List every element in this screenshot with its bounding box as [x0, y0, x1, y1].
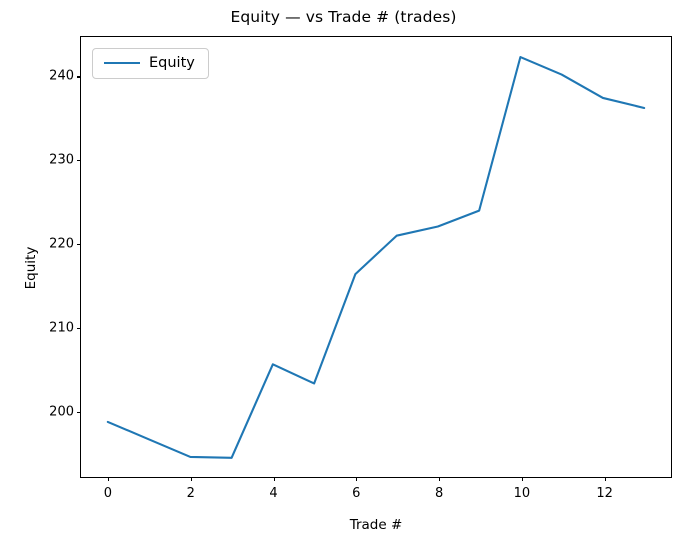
- x-tick-label: 2: [187, 486, 195, 501]
- y-tick-label: 200: [49, 404, 74, 419]
- x-tick-mark: [522, 477, 523, 481]
- y-tick-mark: [77, 328, 81, 329]
- legend-entry-label: Equity: [149, 56, 195, 71]
- y-tick-label: 230: [49, 153, 74, 168]
- equity-series-line: [108, 57, 644, 458]
- x-tick-mark: [191, 477, 192, 481]
- x-axis-label: Trade #: [81, 517, 671, 533]
- x-tick-label: 6: [352, 486, 360, 501]
- x-tick-mark: [356, 477, 357, 481]
- x-tick-mark: [439, 477, 440, 481]
- x-tick-mark: [274, 477, 275, 481]
- x-tick-label: 0: [104, 486, 112, 501]
- x-tick-label: 10: [514, 486, 531, 501]
- x-tick-label: 8: [435, 486, 443, 501]
- x-tick-mark: [108, 477, 109, 481]
- x-tick-mark: [605, 477, 606, 481]
- x-tick-label: 12: [596, 486, 613, 501]
- chart-figure: Equity — vs Trade # (trades) Equity Trad…: [0, 0, 687, 546]
- y-tick-label: 240: [49, 69, 74, 84]
- chart-title: Equity — vs Trade # (trades): [0, 8, 687, 26]
- y-tick-mark: [77, 412, 81, 413]
- x-tick-label: 4: [269, 486, 277, 501]
- plot-area: Equity Trade # 200210220230240 024681012…: [80, 36, 672, 478]
- legend-line-swatch-icon: [104, 62, 140, 64]
- y-tick-mark: [77, 160, 81, 161]
- y-tick-label: 220: [49, 237, 74, 252]
- y-tick-label: 210: [49, 321, 74, 336]
- y-tick-mark: [77, 76, 81, 77]
- y-axis-label: Equity: [23, 198, 43, 338]
- y-tick-mark: [77, 244, 81, 245]
- equity-line-chart: [81, 37, 671, 477]
- chart-legend: Equity: [92, 48, 209, 79]
